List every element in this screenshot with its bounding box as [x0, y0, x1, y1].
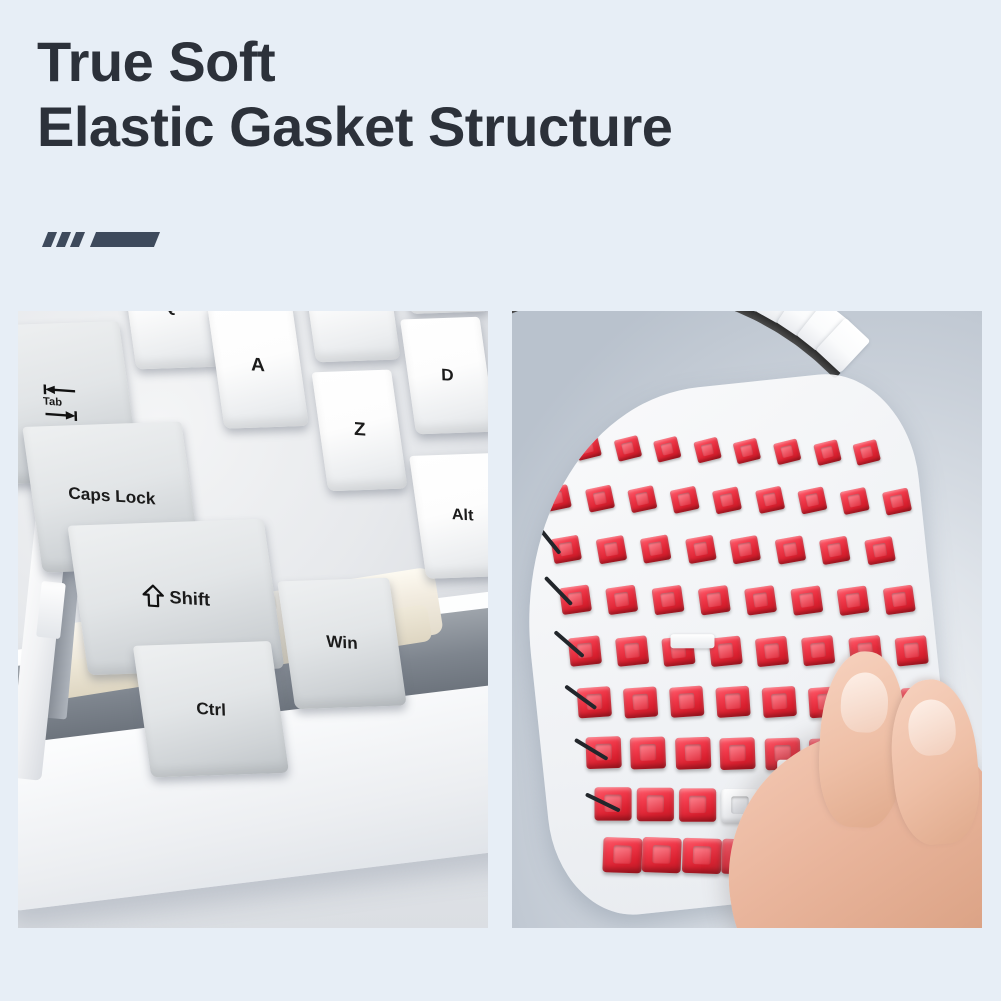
red-switch	[801, 635, 835, 666]
keycap-label: Tab	[43, 396, 78, 410]
red-switch	[882, 488, 912, 516]
red-switch	[729, 535, 761, 564]
red-switch	[584, 485, 614, 513]
red-switch	[585, 736, 621, 769]
keyboard-scene-image: Tab Caps Lock	[18, 311, 488, 928]
red-switch	[594, 787, 631, 820]
red-switch	[576, 686, 611, 718]
red-switch	[853, 440, 882, 467]
red-switch	[839, 487, 869, 515]
keycap-win: Win	[277, 578, 406, 709]
keycap-label: Alt	[451, 507, 473, 526]
keycap-label: A	[250, 355, 265, 378]
red-switch	[534, 434, 563, 461]
shift-row: Shift	[142, 583, 211, 611]
keycap-w: W	[394, 311, 488, 314]
red-switch	[715, 686, 750, 718]
keycap-label: Ctrl	[195, 698, 225, 720]
red-switch	[719, 737, 755, 770]
divider-tick-icon	[70, 232, 85, 247]
red-switch	[651, 585, 684, 616]
red-switch	[773, 438, 802, 465]
page-title-line-1: True Soft	[37, 33, 672, 91]
photo-panel-flexible-pcb	[512, 311, 982, 928]
decorative-divider	[45, 229, 157, 249]
keycap-label: Caps Lock	[67, 484, 155, 510]
photo-panel-gasket-closeup: Tab Caps Lock	[18, 311, 488, 928]
red-switch	[819, 536, 851, 565]
fingernail	[839, 671, 889, 733]
red-switch	[836, 585, 869, 616]
keycap-cluster: Tab Caps Lock	[18, 311, 488, 765]
red-switch	[755, 635, 789, 666]
red-switch	[813, 439, 842, 466]
keycap-label: Q	[163, 311, 177, 317]
red-switch	[681, 838, 721, 874]
red-switch	[568, 635, 602, 666]
tab-arrows-icon: Tab	[43, 384, 79, 422]
keycap-ctrl: Ctrl	[132, 641, 288, 778]
red-switch	[623, 686, 658, 718]
keycap-z: Z	[312, 370, 408, 492]
photo-panel-group: Tab Caps Lock	[18, 311, 983, 928]
red-switch	[895, 635, 929, 666]
red-switch	[744, 585, 777, 616]
red-switch	[573, 435, 602, 462]
keycap-alt: Alt	[409, 454, 488, 580]
divider-bar-icon	[90, 232, 160, 247]
flex-cut-slit	[524, 469, 549, 503]
red-switch	[733, 437, 762, 464]
red-switch	[602, 837, 642, 873]
red-switch	[698, 585, 731, 616]
keycap-q: Q	[119, 311, 221, 370]
red-switch	[675, 737, 711, 770]
red-switch	[685, 535, 717, 564]
red-switch	[614, 635, 648, 666]
keycap-a: A	[207, 311, 309, 429]
red-switch	[712, 486, 742, 514]
keycap-label: S	[343, 311, 357, 313]
keycap-label: Z	[354, 419, 367, 442]
keycap-d: D	[400, 317, 488, 434]
keycap-s: S	[299, 311, 400, 363]
divider-tick-icon	[42, 232, 57, 247]
red-switch	[693, 437, 722, 464]
red-switch	[864, 536, 896, 565]
keycap-label: D	[441, 365, 454, 386]
red-switch	[761, 686, 796, 718]
red-switch	[605, 585, 638, 616]
red-switch	[797, 487, 827, 515]
red-switch	[613, 435, 642, 462]
red-switch	[595, 535, 627, 564]
keycap-label: Win	[326, 633, 358, 655]
red-switch	[640, 535, 672, 564]
red-switch	[653, 436, 682, 463]
shift-arrow-icon	[142, 583, 165, 608]
red-switch	[642, 837, 682, 873]
keycap-label: Shift	[169, 587, 210, 611]
page-title-line-2: Elastic Gasket Structure	[37, 98, 672, 156]
red-switch	[637, 788, 674, 821]
finger	[885, 676, 982, 847]
red-switch	[882, 585, 915, 616]
stabilizer-bar	[670, 634, 714, 648]
flexed-plate-scene-image	[512, 311, 982, 928]
page-title: True Soft Elastic Gasket Structure	[37, 33, 672, 156]
red-switch	[679, 788, 716, 821]
red-switch	[630, 737, 666, 770]
red-switch	[669, 485, 699, 513]
red-switch	[790, 585, 823, 616]
red-switch	[627, 485, 657, 513]
red-switch	[754, 486, 784, 514]
red-switch	[774, 535, 806, 564]
red-switch	[669, 686, 704, 718]
divider-tick-icon	[56, 232, 71, 247]
fingernail	[905, 697, 957, 757]
